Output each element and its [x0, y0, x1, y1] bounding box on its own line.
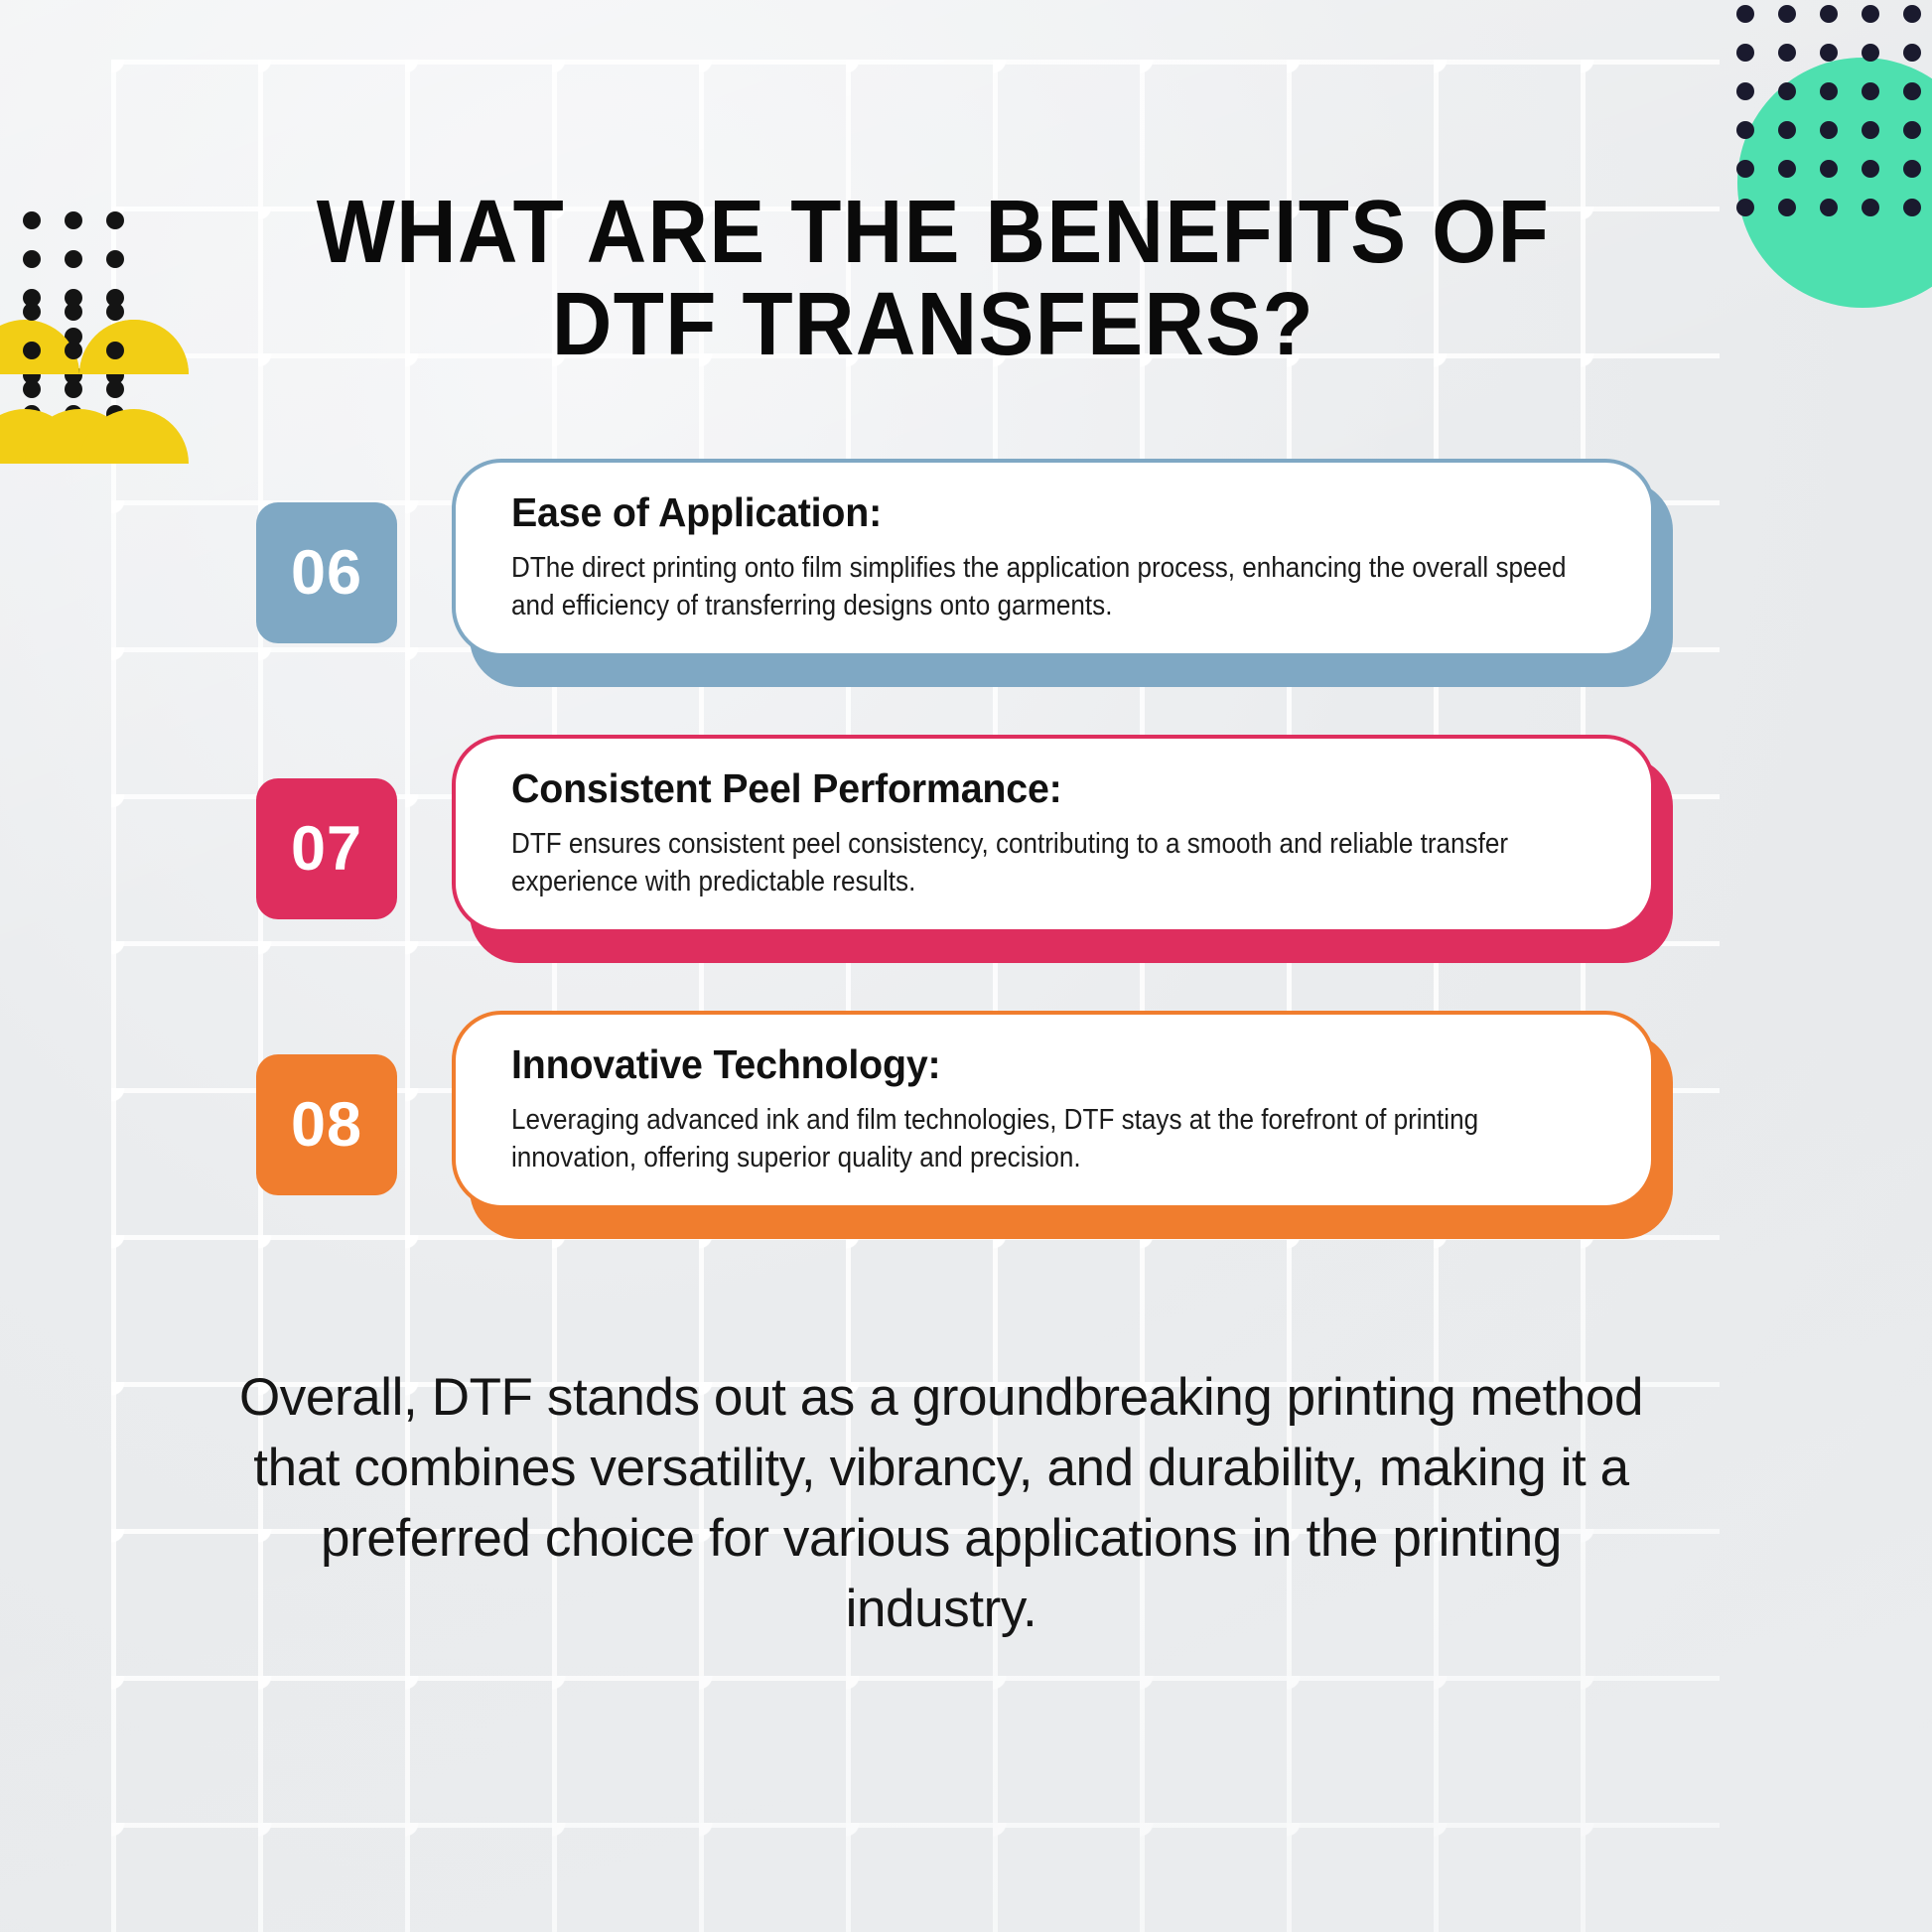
card-wrapper: Ease of Application: DThe direct printin… — [452, 459, 1673, 687]
card-wrapper: Innovative Technology: Leveraging advanc… — [452, 1011, 1673, 1239]
infographic-canvas: WHAT ARE THE BENEFITS OF DTF TRANSFERS? … — [0, 0, 1932, 1932]
card-number-label: 06 — [291, 537, 362, 609]
card-heading: Consistent Peel Performance: — [511, 766, 1556, 811]
card-heading: Innovative Technology: — [511, 1042, 1556, 1087]
benefit-card[interactable]: Ease of Application: DThe direct printin… — [452, 459, 1655, 657]
card-number-badge: 08 — [256, 1054, 397, 1195]
card-number-badge: 06 — [256, 502, 397, 643]
card-body-text: DTF ensures consistent peel consistency,… — [511, 825, 1596, 900]
card-number-badge: 07 — [256, 778, 397, 919]
benefit-card[interactable]: Consistent Peel Performance: DTF ensures… — [452, 735, 1655, 933]
card-body-text: Leveraging advanced ink and film technol… — [511, 1101, 1596, 1176]
page-title: WHAT ARE THE BENEFITS OF DTF TRANSFERS? — [250, 187, 1616, 370]
benefit-card[interactable]: Innovative Technology: Leveraging advanc… — [452, 1011, 1655, 1209]
card-number-label: 07 — [291, 813, 362, 885]
card-heading: Ease of Application: — [511, 490, 1556, 535]
benefit-card-row: 08 Innovative Technology: Leveraging adv… — [0, 1011, 1932, 1271]
summary-paragraph: Overall, DTF stands out as a groundbreak… — [236, 1362, 1646, 1644]
card-number-label: 08 — [291, 1089, 362, 1161]
card-wrapper: Consistent Peel Performance: DTF ensures… — [452, 735, 1673, 963]
card-body-text: DThe direct printing onto film simplifie… — [511, 549, 1596, 624]
content-layer: WHAT ARE THE BENEFITS OF DTF TRANSFERS? … — [0, 0, 1932, 1932]
benefit-card-row: 07 Consistent Peel Performance: DTF ensu… — [0, 735, 1932, 995]
benefit-card-list: 06 Ease of Application: DThe direct prin… — [0, 459, 1932, 1287]
benefit-card-row: 06 Ease of Application: DThe direct prin… — [0, 459, 1932, 719]
